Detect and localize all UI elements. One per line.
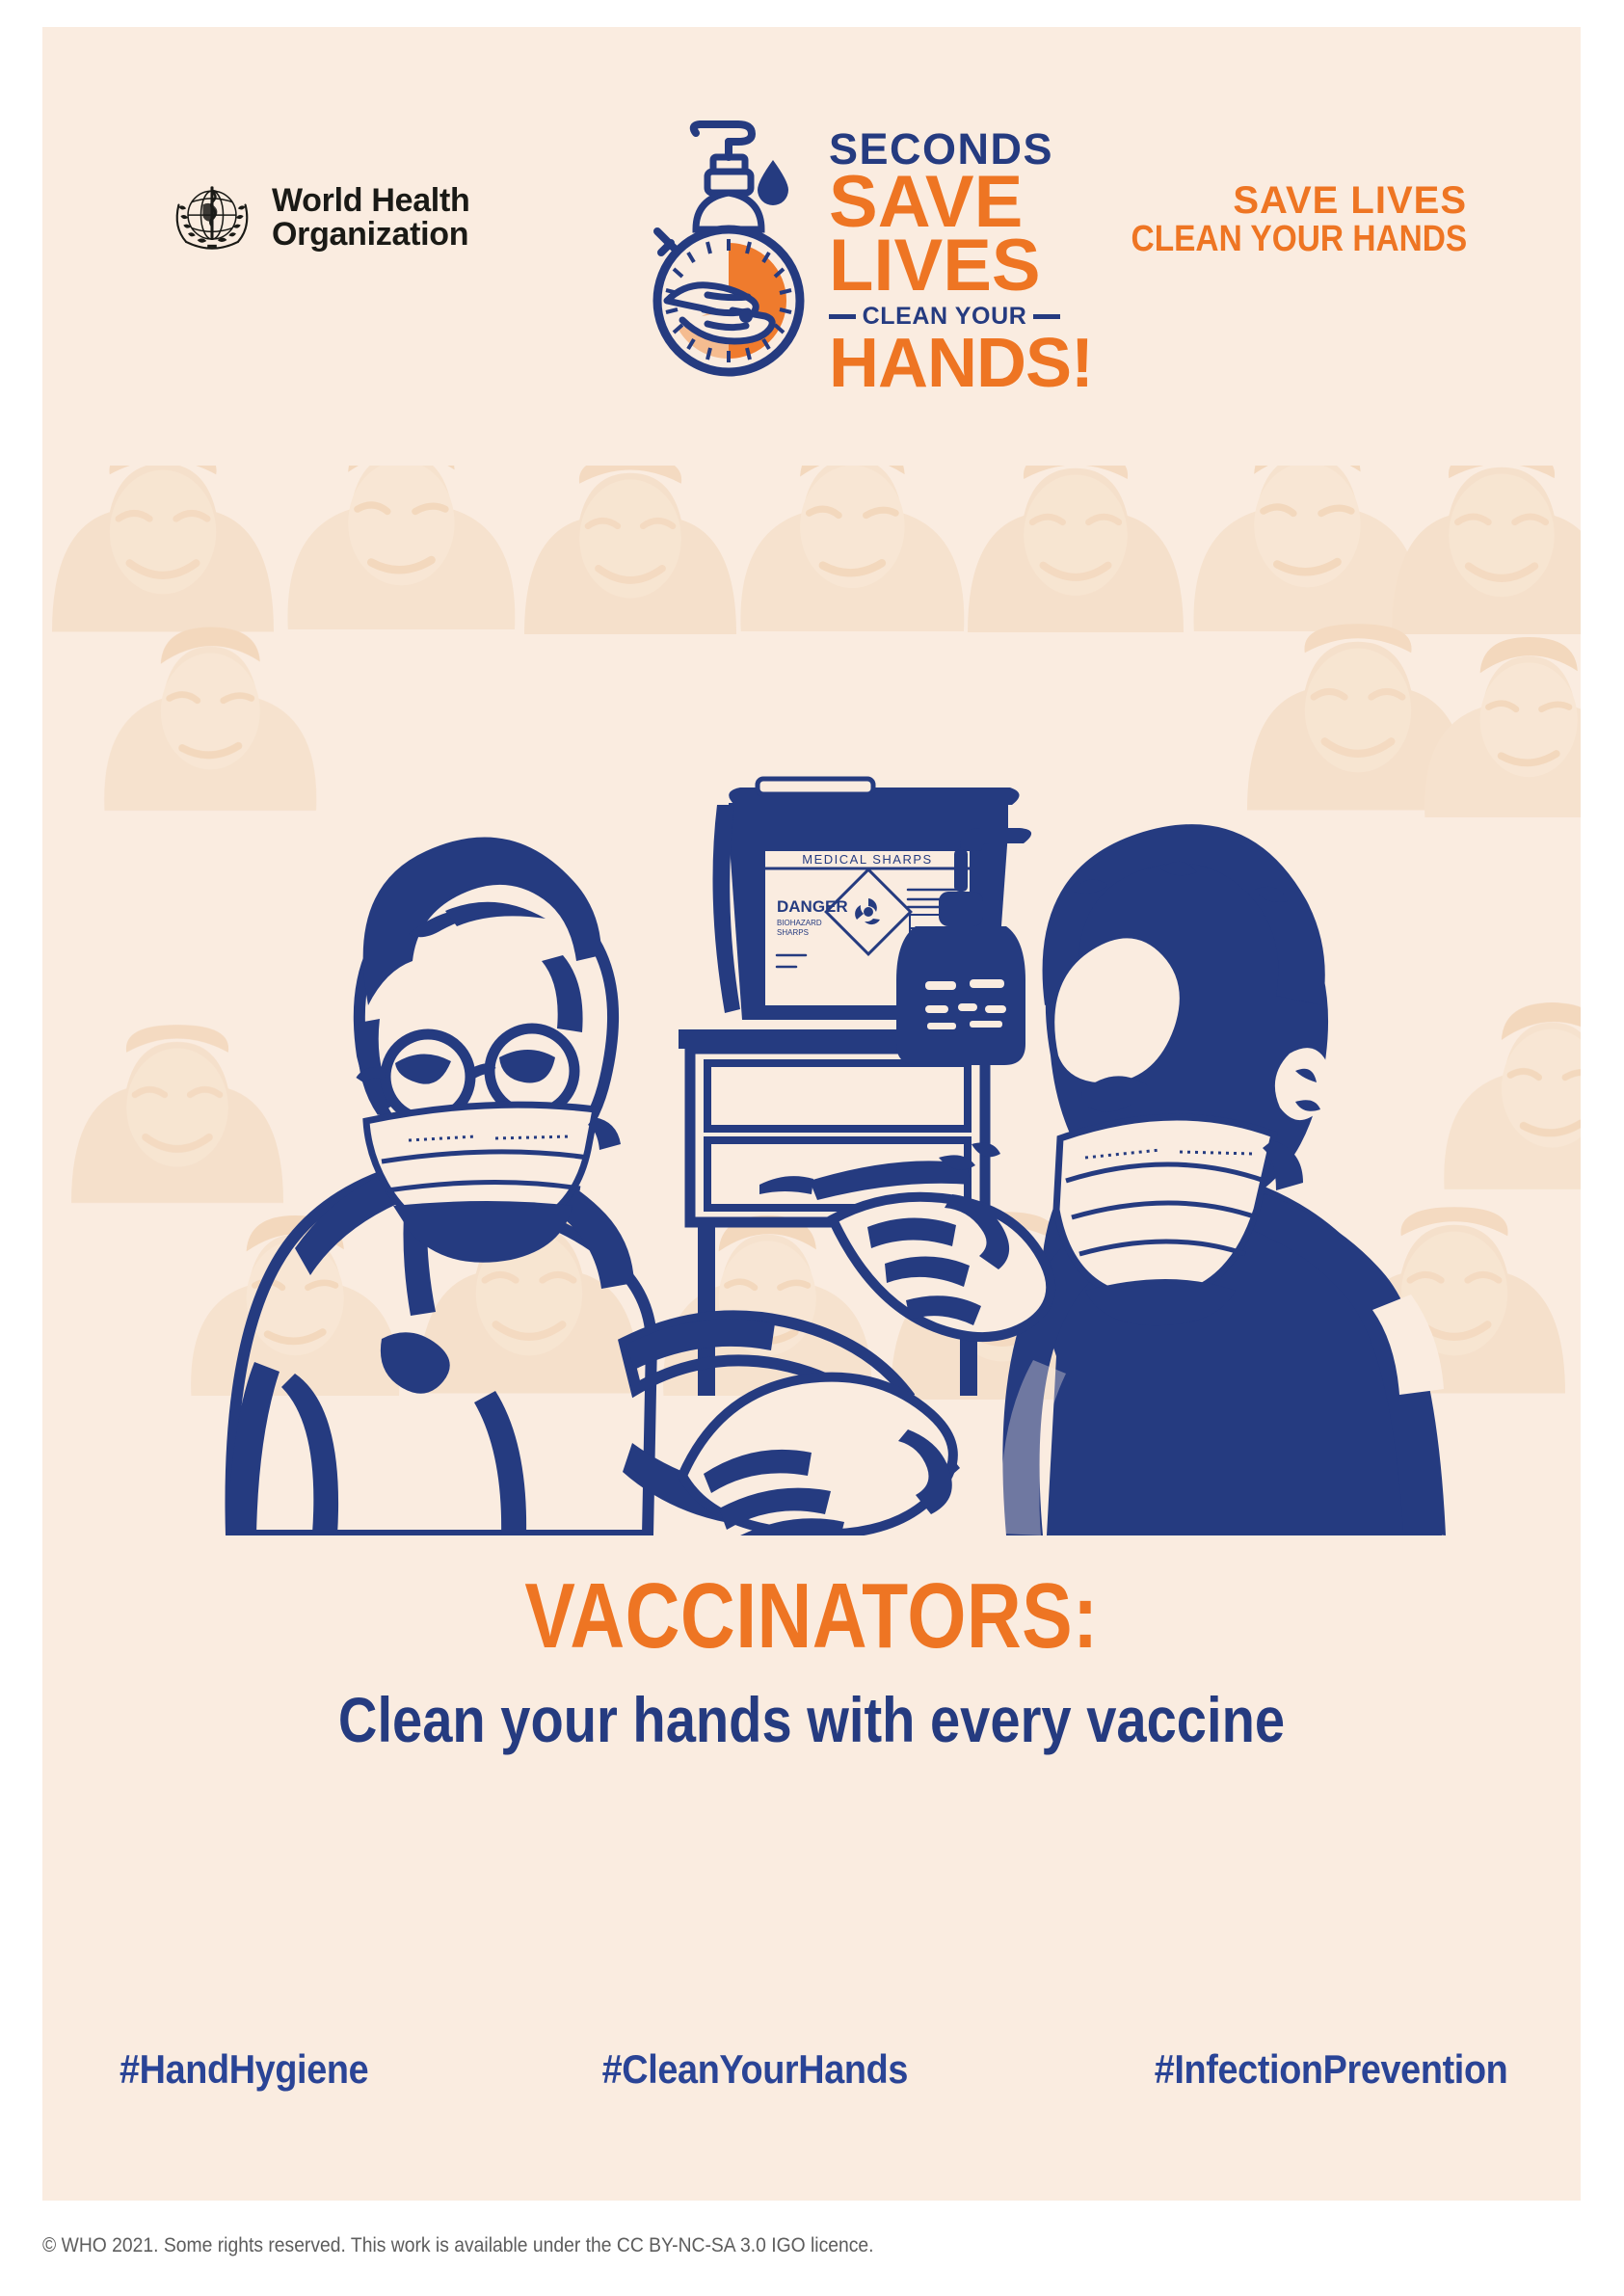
copyright-notice: © WHO 2021. Some rights reserved. This w… <box>42 2234 1372 2257</box>
who-wordmark-line1: World Health <box>272 184 469 218</box>
campaign-type: SECONDS SAVE LIVES CLEAN YOUR HANDS! <box>829 129 1060 394</box>
hashtag-clean-your-hands[interactable]: #CleanYourHands <box>602 2046 908 2093</box>
campaign-rule-right <box>1033 314 1060 319</box>
stopwatch-handwash-icon <box>632 112 830 391</box>
hashtag-hand-hygiene[interactable]: #HandHygiene <box>120 2046 368 2093</box>
who-wordmark-line2: Organization <box>272 218 469 252</box>
who-logo: World Health Organization <box>166 172 469 264</box>
campaign-line-lives: LIVES <box>829 234 1060 297</box>
illustration-artwork: MEDICAL SHARPS DANGER BIOHAZARD SHARPS <box>42 466 1581 1535</box>
poster-header: World Health Organization <box>42 27 1581 432</box>
svg-text:SHARPS: SHARPS <box>777 928 809 937</box>
poster-footer: © WHO 2021. Some rights reserved. This w… <box>42 2234 1488 2257</box>
who-wordmark: World Health Organization <box>272 184 469 251</box>
svg-text:MEDICAL SHARPS: MEDICAL SHARPS <box>802 852 932 867</box>
page-headline: VACCINATORS: <box>181 1569 1443 1664</box>
header-tagline: SAVE LIVES CLEAN YOUR HANDS <box>1085 181 1467 259</box>
campaign-line-hands: HANDS! <box>829 334 1060 394</box>
tagline-line2: CLEAN YOUR HANDS <box>1131 221 1467 259</box>
page-subheadline: Clean your hands with every vaccine <box>158 1687 1466 1753</box>
svg-text:BIOHAZARD: BIOHAZARD <box>777 919 822 927</box>
who-emblem-icon <box>166 172 258 264</box>
message-block: VACCINATORS: Clean your hands with every… <box>42 1569 1581 1753</box>
campaign-rule-left <box>829 314 856 319</box>
hashtag-infection-prevention[interactable]: #InfectionPrevention <box>1154 2046 1507 2093</box>
vaccination-illustration: MEDICAL SHARPS DANGER BIOHAZARD SHARPS <box>42 466 1581 1535</box>
campaign-logo: SECONDS SAVE LIVES CLEAN YOUR HANDS! <box>632 112 1056 401</box>
poster-canvas: World Health Organization <box>42 27 1581 2201</box>
tagline-line1: SAVE LIVES <box>1085 181 1467 221</box>
hashtag-row: #HandHygiene #CleanYourHands #InfectionP… <box>120 2046 1507 2093</box>
